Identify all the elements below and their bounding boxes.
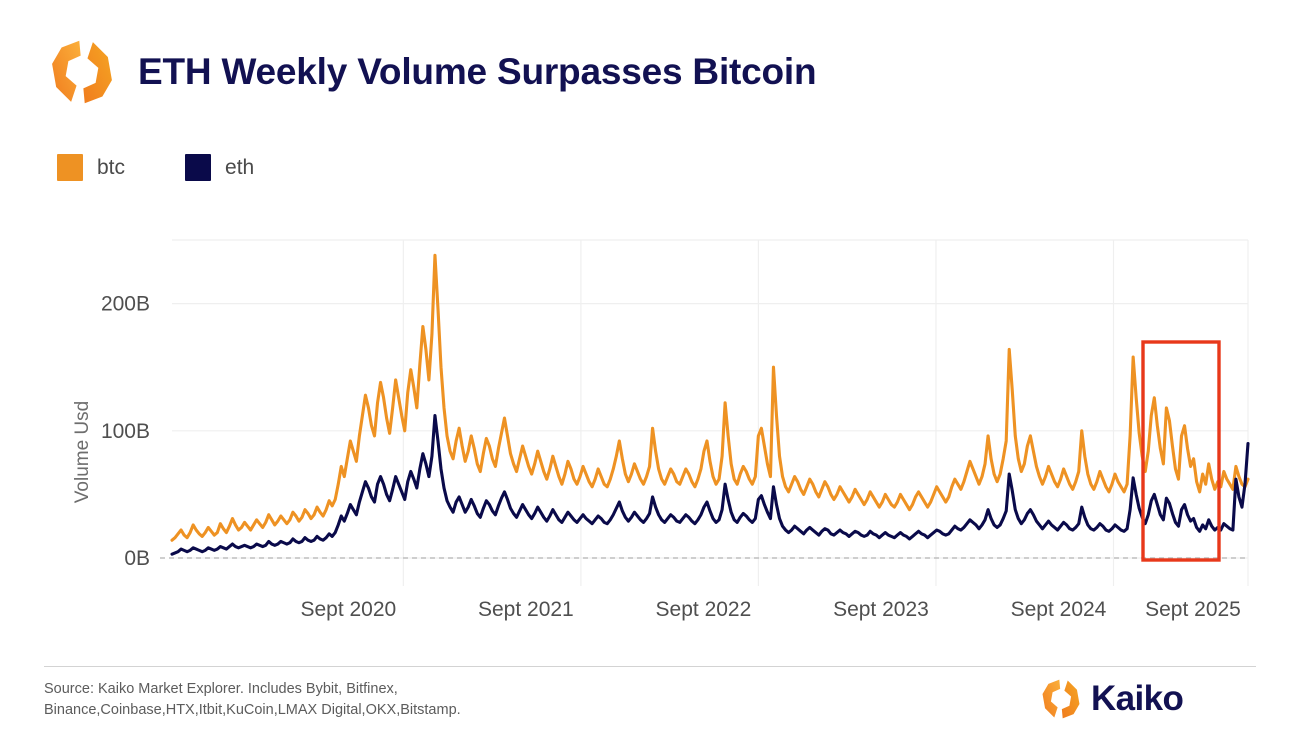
- chart-area: Volume Usd 0B100B200B Sept 2020Sept 2021…: [0, 222, 1301, 632]
- legend-swatch-eth-icon: [185, 154, 211, 181]
- x-axis-tick-label: Sept 2021: [478, 598, 574, 621]
- y-axis-tick-label: 0B: [124, 547, 150, 570]
- x-axis-tick-label: Sept 2020: [300, 598, 396, 621]
- footer-brand: Kaiko: [1040, 678, 1183, 720]
- chart-legend: btc eth: [57, 154, 254, 181]
- page-title: ETH Weekly Volume Surpasses Bitcoin: [138, 51, 816, 93]
- infographic-page: ETH Weekly Volume Surpasses Bitcoin btc …: [0, 0, 1301, 749]
- x-axis-tick-label: Sept 2022: [656, 598, 752, 621]
- legend-label-btc: btc: [97, 156, 125, 180]
- x-axis-tick-label: Sept 2024: [1011, 598, 1107, 621]
- y-axis-tick-labels: 0B100B200B: [101, 293, 150, 570]
- y-axis-tick-label: 100B: [101, 420, 150, 443]
- source-note: Source: Kaiko Market Explorer. Includes …: [44, 679, 684, 721]
- header: ETH Weekly Volume Surpasses Bitcoin: [48, 38, 816, 106]
- x-axis-tick-label: Sept 2023: [833, 598, 929, 621]
- footer-divider: [44, 666, 1256, 667]
- legend-label-eth: eth: [225, 156, 254, 180]
- kaiko-hexagon-logo-icon: [1040, 678, 1082, 720]
- y-axis-title: Volume Usd: [72, 401, 93, 503]
- x-axis-tick-labels: Sept 2020Sept 2021Sept 2022Sept 2023Sept…: [300, 598, 1240, 621]
- y-axis-tick-label: 200B: [101, 293, 150, 316]
- source-line-2: Binance,Coinbase,HTX,Itbit,KuCoin,LMAX D…: [44, 700, 684, 721]
- source-line-1: Source: Kaiko Market Explorer. Includes …: [44, 679, 684, 700]
- legend-item-eth[interactable]: eth: [185, 154, 254, 181]
- plot-background: [172, 240, 1248, 580]
- legend-item-btc[interactable]: btc: [57, 154, 125, 181]
- x-axis-tick-label: Sept 2025: [1145, 598, 1241, 621]
- footer-brand-word: Kaiko: [1091, 679, 1183, 719]
- volume-line-chart: Volume Usd 0B100B200B Sept 2020Sept 2021…: [0, 222, 1301, 632]
- legend-swatch-btc-icon: [57, 154, 83, 181]
- kaiko-hexagon-logo-icon: [48, 38, 116, 106]
